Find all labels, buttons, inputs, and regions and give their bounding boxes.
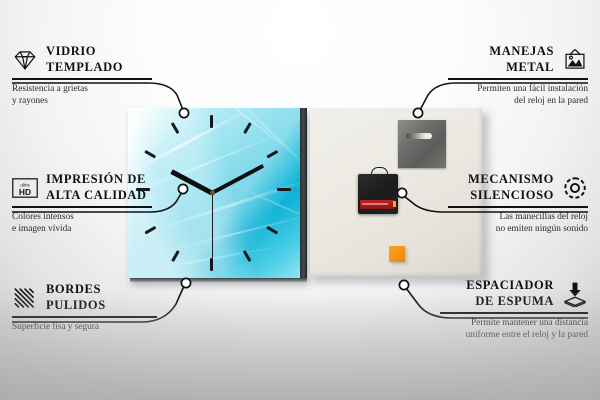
callout-title-line2: PULIDOS — [46, 298, 106, 312]
callout-desc-line2: y rayones — [12, 96, 48, 106]
callout-title-line1: MANEJAS — [489, 44, 554, 58]
callout-desc-line2: del reloj en la pared — [514, 96, 588, 106]
ultra-hd-icon: ultra HD — [12, 175, 38, 201]
callout-desc-line2: uniforme entre el reloj y la pared — [466, 330, 588, 340]
front-clock-edge — [300, 108, 307, 278]
foam-spacer-icon — [562, 281, 588, 307]
callout-mecanismo-silencioso: MECANISMO SILENCIOSO Las manecillas del … — [448, 172, 588, 236]
callout-desc-line2: no emiten ningún sonido — [496, 224, 588, 234]
callout-desc-line1: Resistencia a grietas — [12, 84, 88, 94]
callout-title-line2: TEMPLADO — [46, 60, 123, 74]
callout-bordes-pulidos: BORDES PULIDOS Superficie lisa y segura — [12, 282, 157, 333]
polished-edges-icon — [12, 285, 38, 311]
callout-title-line1: VIDRIO — [46, 44, 96, 58]
callout-desc-line1: Las manecillas del reloj — [499, 212, 588, 222]
callout-rule — [12, 206, 152, 207]
front-clock-face — [128, 108, 300, 278]
callout-desc-line1: Colores intensos — [12, 212, 74, 222]
infographic-canvas: VIDRIO TEMPLADO Resistencia a grietas y … — [0, 0, 600, 400]
callout-title-line2: DE ESPUMA — [475, 294, 554, 308]
callout-desc-line2: e imagen vívida — [12, 224, 71, 234]
diamond-icon — [12, 47, 38, 73]
product-front-clock — [128, 108, 306, 280]
foam-spacer — [389, 246, 405, 262]
callout-title-line2: METAL — [506, 60, 554, 74]
battery — [360, 200, 394, 209]
callout-desc-line1: Permiten una fácil instalación — [477, 84, 588, 94]
keyhole-slot — [406, 133, 432, 139]
callout-title-line2: SILENCIOSO — [470, 188, 554, 202]
callout-rule — [440, 312, 588, 313]
svg-text:HD: HD — [19, 187, 31, 197]
callout-manejas-metal: MANEJAS METAL Permiten una fácil instala… — [448, 44, 588, 108]
gear-icon — [562, 175, 588, 201]
callout-espaciador-espuma: ESPACIADOR DE ESPUMA Permite mantener un… — [440, 278, 588, 342]
callout-rule — [448, 206, 588, 207]
callout-rule — [12, 78, 152, 79]
callout-title-line1: BORDES — [46, 282, 101, 296]
callout-desc-line1: Superficie lisa y segura — [12, 322, 99, 332]
callout-title-line1: IMPRESIÓN DE — [46, 172, 146, 186]
callout-vidrio-templado: VIDRIO TEMPLADO Resistencia a grietas y … — [12, 44, 152, 108]
minute-hand — [211, 164, 264, 195]
callout-desc-line1: Permite mantener una distancia — [471, 318, 588, 328]
callout-title-line1: MECANISMO — [468, 172, 554, 186]
callout-impresion-alta-calidad: ultra HD IMPRESIÓN DE ALTA CALIDAD Color… — [12, 172, 152, 236]
callout-rule — [12, 316, 157, 317]
metal-hanger-plate — [398, 120, 446, 168]
picture-hanger-icon — [562, 47, 588, 73]
callout-rule — [448, 78, 588, 79]
callout-title-line2: ALTA CALIDAD — [46, 188, 147, 202]
hour-hand — [170, 170, 213, 196]
callout-title-line1: ESPACIADOR — [466, 278, 554, 292]
